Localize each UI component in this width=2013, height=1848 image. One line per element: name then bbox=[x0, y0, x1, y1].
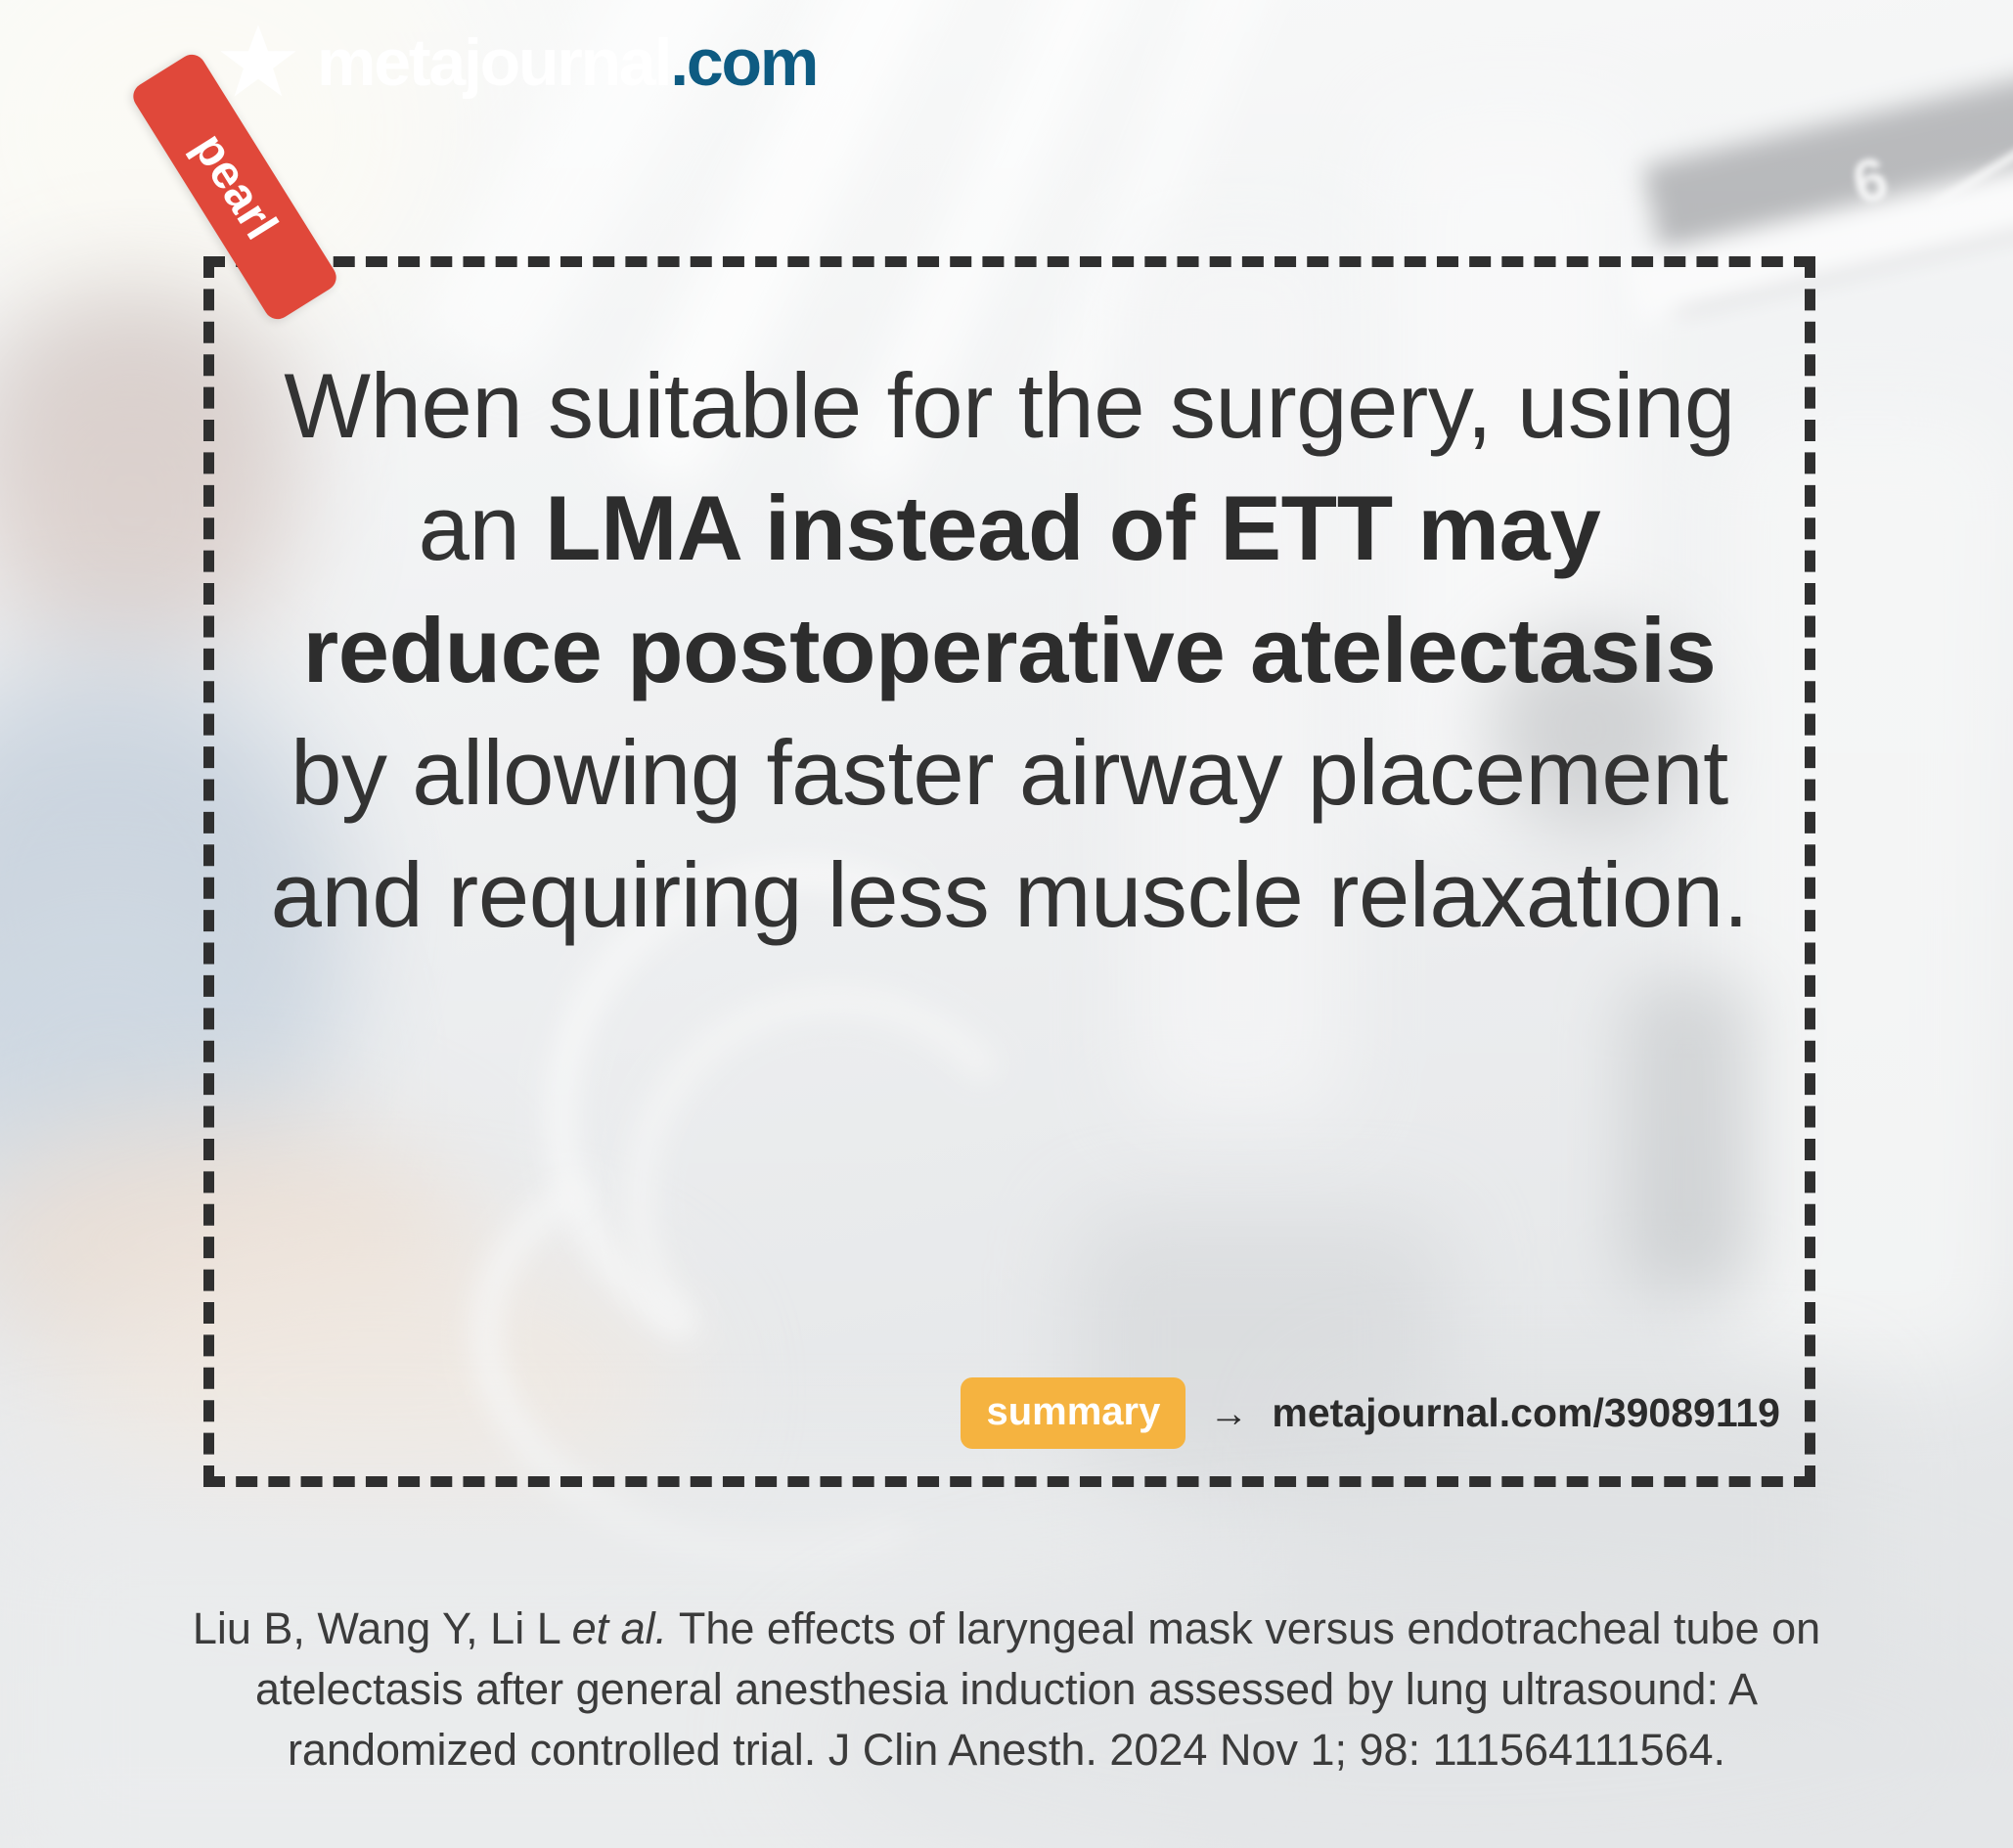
summary-badge[interactable]: summary bbox=[961, 1377, 1185, 1449]
arrow-right-icon: → bbox=[1209, 1394, 1248, 1433]
brand-logo[interactable]: metajournal.com bbox=[217, 22, 817, 104]
citation-etal: et al. bbox=[572, 1603, 668, 1653]
citation-authors: Liu B, Wang Y, Li L bbox=[193, 1603, 572, 1653]
brand-tld: .com bbox=[670, 25, 817, 100]
citation-reference: Liu B, Wang Y, Li L et al. The effects o… bbox=[147, 1599, 1866, 1780]
brand-wordmark: metajournal.com bbox=[317, 29, 817, 96]
summary-url-link[interactable]: metajournal.com/39089119 bbox=[1272, 1393, 1780, 1433]
pearl-statement: When suitable for the surgery, using an … bbox=[256, 344, 1763, 956]
pearl-text-tail: by allowing faster airway placement and … bbox=[271, 721, 1749, 946]
summary-link-row[interactable]: summary → metajournal.com/39089119 bbox=[961, 1377, 1780, 1449]
brand-name: metajournal bbox=[317, 25, 670, 100]
star-icon bbox=[217, 22, 299, 104]
